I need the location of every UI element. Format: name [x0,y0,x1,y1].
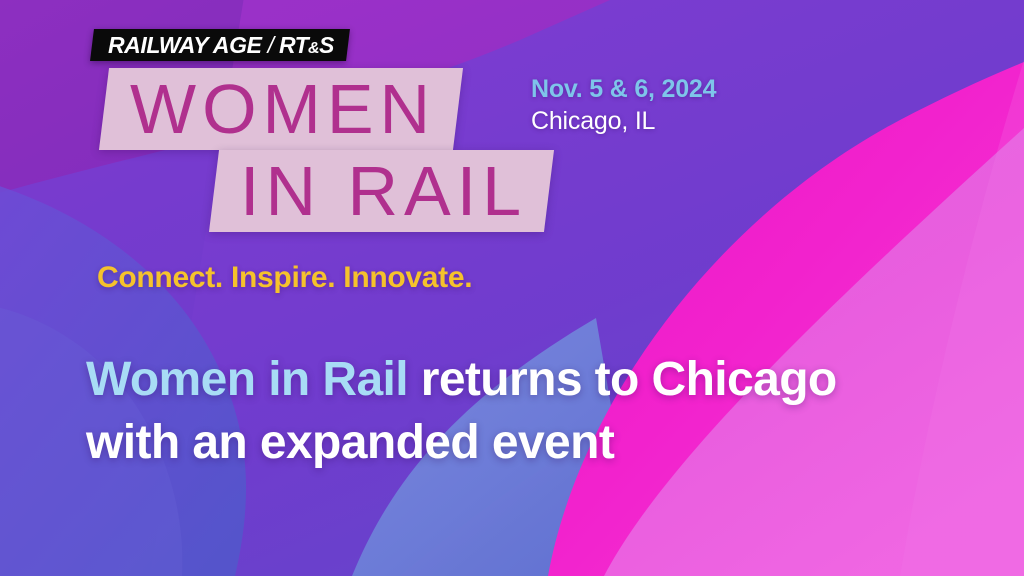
headline-line-1: Women in Rail returns to Chicago [86,348,966,411]
publisher-logo-inner: RAILWAY AGE / RT&S [108,32,334,59]
headline: Women in Rail returns to Chicago with an… [86,348,966,475]
publisher-logo: RAILWAY AGE / RT&S [90,29,350,61]
promotional-banner: RAILWAY AGE / RT&S WOMEN IN RAIL Nov. 5 … [0,0,1024,576]
title-text-women: WOMEN [130,74,436,144]
headline-highlight-text: Women in Rail [86,353,408,406]
headline-line-1-rest: returns to Chicago [408,353,837,406]
event-dates: Nov. 5 & 6, 2024 [531,74,716,105]
logo-rts-prefix: RT [279,32,308,58]
title-banner-in-rail: IN RAIL [209,150,554,232]
title-banner-women: WOMEN [99,68,463,150]
content-layer: RAILWAY AGE / RT&S WOMEN IN RAIL Nov. 5 … [0,0,1024,576]
logo-rts-text: RT&S [279,32,334,59]
logo-railway-age-text: RAILWAY AGE [108,32,262,59]
title-text-in-rail: IN RAIL [240,156,527,226]
logo-separator: / [268,32,274,59]
logo-rts-suffix: S [319,32,334,58]
event-tagline: Connect. Inspire. Innovate. [97,261,472,295]
headline-line-2: with an expanded event [86,411,966,474]
event-location: Chicago, IL [531,105,716,138]
logo-rts-ampersand: & [308,40,319,57]
event-details: Nov. 5 & 6, 2024 Chicago, IL [531,74,716,137]
